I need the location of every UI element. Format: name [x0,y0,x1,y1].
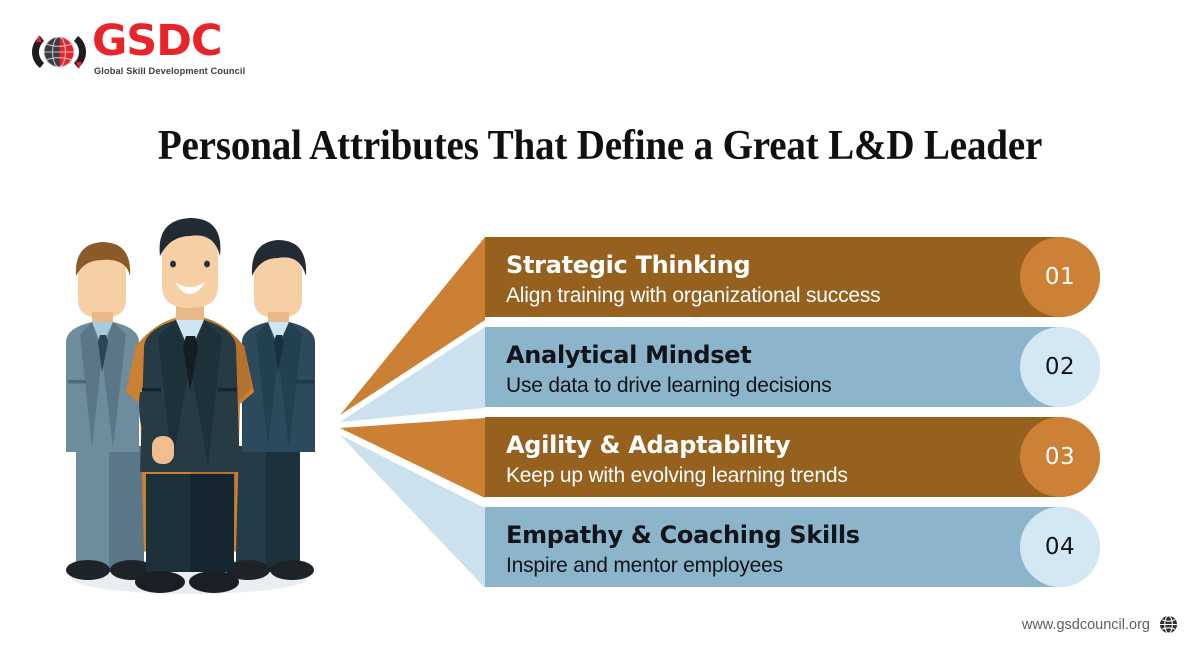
attribute-number: 03 [1020,417,1100,497]
attribute-number: 02 [1020,327,1100,407]
attribute-heading: Agility & Adaptability [506,430,1016,461]
logo-wordmark: GSDC [92,20,222,63]
attribute-heading: Analytical Mindset [506,340,1016,371]
footer-url[interactable]: www.gsdcouncil.org [1022,617,1150,633]
footer: www.gsdcouncil.org [1022,615,1178,634]
logo-tagline: Global Skill Development Council [94,66,245,76]
attribute-number: 01 [1020,237,1100,317]
attribute-row-4[interactable]: 04 Empathy & Coaching Skills Inspire and… [485,507,1100,587]
attribute-heading: Empathy & Coaching Skills [506,520,1016,551]
attribute-number: 04 [1020,507,1100,587]
attribute-text-block: Strategic Thinking Align training with o… [506,250,1016,309]
attribute-subtitle: Align training with organizational succe… [506,282,1016,309]
attribute-row-3[interactable]: 03 Agility & Adaptability Keep up with e… [485,417,1100,497]
funnel-connector-shapes [330,230,510,590]
three-businessmen-with-cape-illustration [40,196,340,600]
brand-logo[interactable]: GSDC Global Skill Development Council [30,22,260,84]
attribute-row-2[interactable]: 02 Analytical Mindset Use data to drive … [485,327,1100,407]
attribute-row-1[interactable]: 01 Strategic Thinking Align training wit… [485,237,1100,317]
attribute-text-block: Agility & Adaptability Keep up with evol… [506,430,1016,489]
center-businessman-with-cape [126,218,254,593]
page-title: Personal Attributes That Define a Great … [42,122,1158,170]
attribute-text-block: Analytical Mindset Use data to drive lea… [506,340,1016,399]
attribute-text-block: Empathy & Coaching Skills Inspire and me… [506,520,1016,579]
attribute-heading: Strategic Thinking [506,250,1016,281]
attribute-subtitle: Inspire and mentor employees [506,552,1016,579]
globe-icon [1159,615,1178,634]
gsdc-globe-logo-icon [30,26,88,78]
attribute-subtitle: Use data to drive learning decisions [506,372,1016,399]
attribute-subtitle: Keep up with evolving learning trends [506,462,1016,489]
